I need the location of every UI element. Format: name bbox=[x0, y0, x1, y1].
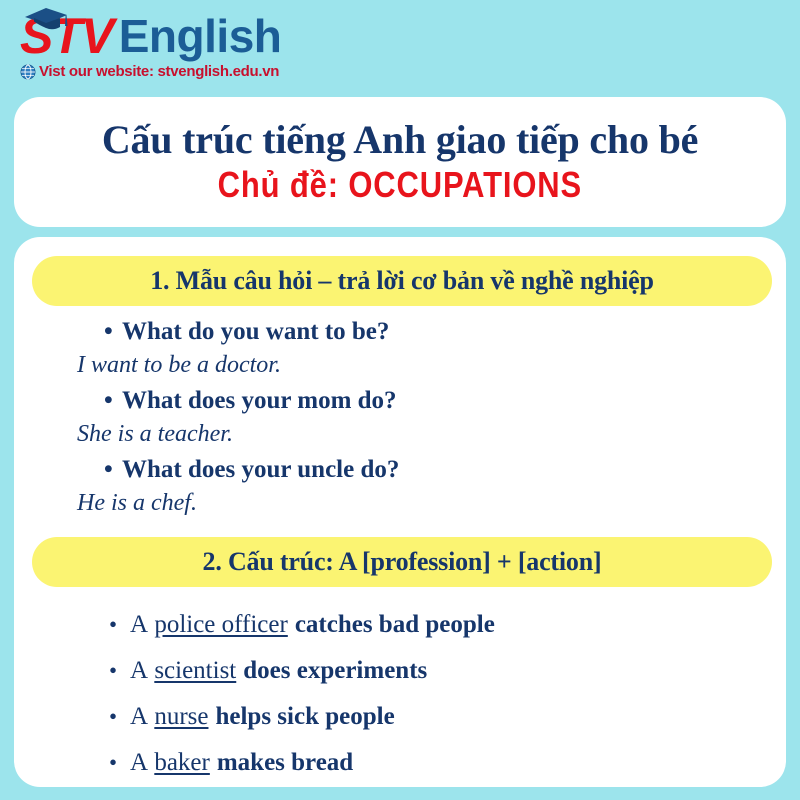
qa-pair: • What does your uncle do? He is a chef. bbox=[14, 453, 786, 520]
article-text: A bbox=[130, 648, 148, 694]
qa-question: • What do you want to be? bbox=[14, 315, 786, 348]
profession-text: scientist bbox=[154, 648, 236, 694]
title-card: Cấu trúc tiếng Anh giao tiếp cho bé Chủ … bbox=[14, 97, 786, 227]
profession-text: nurse bbox=[154, 694, 208, 740]
list-item: • A scientist does experiments bbox=[14, 648, 786, 694]
list-item: • A baker makes bread bbox=[14, 740, 786, 786]
qa-pair: • What does your mom do? She is a teache… bbox=[14, 384, 786, 451]
list-item: • A police officer catches bad people bbox=[14, 602, 786, 648]
bullet-icon: • bbox=[104, 315, 122, 348]
qa-question-text: What do you want to be? bbox=[122, 315, 389, 348]
section-heading-1-text: 1. Mẫu câu hỏi – trả lời cơ bản về nghề … bbox=[150, 266, 654, 296]
profession-text: police officer bbox=[154, 602, 288, 648]
logo-row: STV English bbox=[18, 6, 338, 62]
bullet-icon: • bbox=[109, 648, 130, 694]
action-text: catches bad people bbox=[295, 602, 495, 648]
website-line[interactable]: Vist our website: stvenglish.edu.vn bbox=[20, 63, 338, 80]
list-item: • A nurse helps sick people bbox=[14, 694, 786, 740]
globe-icon bbox=[20, 64, 36, 80]
brand-logo: STV English Vist our website: stvenglish… bbox=[18, 6, 338, 88]
section-heading-1: 1. Mẫu câu hỏi – trả lời cơ bản về nghề … bbox=[32, 256, 772, 306]
structure-list: • A police officer catches bad people • … bbox=[14, 602, 786, 786]
article-text: A bbox=[130, 602, 148, 648]
page-title: Cấu trúc tiếng Anh giao tiếp cho bé bbox=[102, 119, 698, 161]
article-text: A bbox=[130, 740, 148, 786]
qa-question: • What does your mom do? bbox=[14, 384, 786, 417]
qa-answer-text: I want to be a doctor. bbox=[14, 348, 786, 382]
bullet-icon: • bbox=[104, 453, 122, 486]
logo-stv-text: STV bbox=[20, 10, 113, 62]
qa-answer-text: He is a chef. bbox=[14, 486, 786, 520]
bullet-icon: • bbox=[104, 384, 122, 417]
page-subtitle: Chủ đề: OCCUPATIONS bbox=[218, 165, 582, 205]
profession-text: baker bbox=[154, 740, 210, 786]
bullet-icon: • bbox=[109, 694, 130, 740]
section-heading-2: 2. Cấu trúc: A [profession] + [action] bbox=[32, 537, 772, 587]
content-card: 1. Mẫu câu hỏi – trả lời cơ bản về nghề … bbox=[14, 237, 786, 787]
bullet-icon: • bbox=[109, 602, 130, 648]
website-text: Vist our website: stvenglish.edu.vn bbox=[39, 63, 279, 80]
qa-list: • What do you want to be? I want to be a… bbox=[14, 315, 786, 522]
article-text: A bbox=[130, 694, 148, 740]
action-text: helps sick people bbox=[215, 694, 394, 740]
action-text: makes bread bbox=[217, 740, 353, 786]
qa-question-text: What does your uncle do? bbox=[122, 453, 399, 486]
action-text: does experiments bbox=[243, 648, 427, 694]
section-heading-2-text: 2. Cấu trúc: A [profession] + [action] bbox=[203, 547, 602, 577]
qa-pair: • What do you want to be? I want to be a… bbox=[14, 315, 786, 382]
logo-english-text: English bbox=[119, 10, 282, 62]
qa-answer-text: She is a teacher. bbox=[14, 417, 786, 451]
qa-question-text: What does your mom do? bbox=[122, 384, 397, 417]
bullet-icon: • bbox=[109, 740, 130, 786]
qa-question: • What does your uncle do? bbox=[14, 453, 786, 486]
